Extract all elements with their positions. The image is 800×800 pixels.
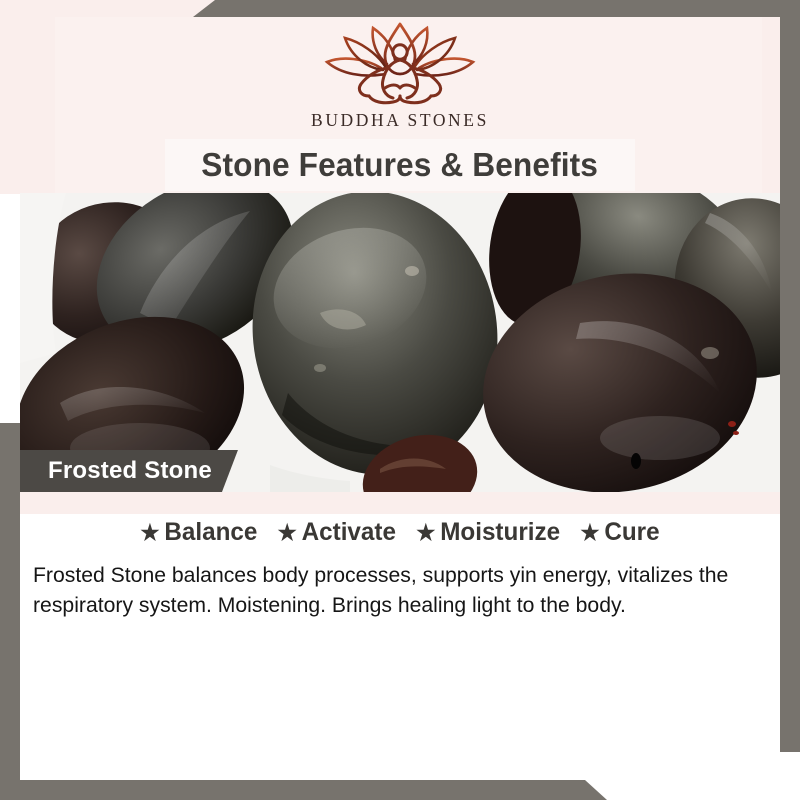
- benefit-item-0: ★Balance: [140, 518, 264, 546]
- frame-band-top: [215, 0, 800, 17]
- photo-caption-text: Frosted Stone: [48, 457, 212, 485]
- description-text: Frosted Stone balances body processes, s…: [33, 560, 760, 620]
- star-icon: ★: [416, 520, 435, 545]
- benefit-label-0: Balance: [164, 518, 257, 546]
- frame-band-left: [0, 423, 20, 800]
- benefit-item-3: ★Cure: [580, 518, 659, 546]
- star-icon: ★: [278, 520, 297, 545]
- star-icon: ★: [580, 520, 599, 545]
- benefit-label-3: Cure: [604, 518, 659, 546]
- star-icon: ★: [140, 520, 159, 545]
- page-title: Stone Features & Benefits: [202, 146, 599, 184]
- lotus-meditation-icon: [315, 22, 485, 106]
- brand-name: BUDDHA STONES: [311, 110, 489, 131]
- brand-logo: BUDDHA STONES: [0, 22, 800, 131]
- benefit-label-1: Activate: [302, 518, 396, 546]
- benefit-item-1: ★Activate: [278, 518, 403, 546]
- product-info-poster: BUDDHA STONES Stone Features & Benefits: [0, 0, 800, 800]
- benefit-label-2: Moisturize: [440, 518, 560, 546]
- stone-photo-illustration: [20, 193, 780, 492]
- stone-photo: [20, 193, 780, 492]
- benefits-list: ★Balance ★Activate ★Moisturize ★Cure: [31, 518, 768, 547]
- photo-caption-badge: Frosted Stone: [20, 450, 238, 492]
- benefit-item-2: ★Moisturize: [416, 518, 567, 546]
- frame-band-bottom: [0, 780, 585, 800]
- photo-underline-strip: [20, 492, 780, 514]
- title-banner: Stone Features & Benefits: [165, 139, 635, 191]
